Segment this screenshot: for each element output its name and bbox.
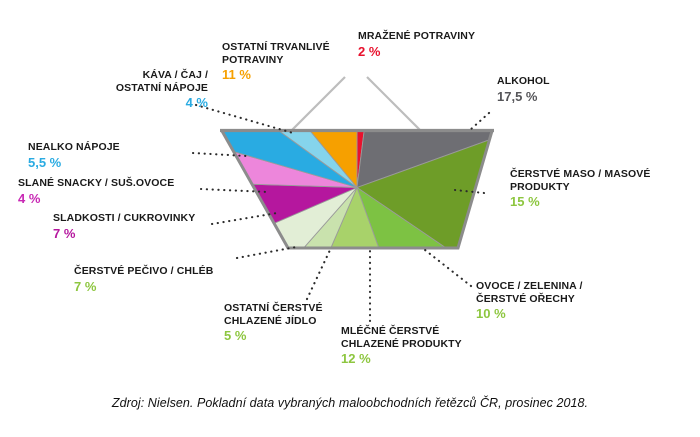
- label-alkohol-name: ALKOHOL: [497, 75, 627, 88]
- label-cerstve-maso-value: 15 %: [510, 194, 675, 209]
- label-nealko-napoje-value: 5,5 %: [28, 155, 183, 170]
- label-ostatni-trvanlive-name: OSTATNÍ TRVANLIVÉ POTRAVINY: [222, 41, 372, 66]
- label-ostatni-chlazene-name: OSTATNÍ ČERSTVÉ CHLAZENÉ JÍDLO: [224, 302, 364, 327]
- label-sladkosti-name: SLADKOSTI / CUKROVINKY: [53, 212, 213, 225]
- label-kava-caj-value: 4 %: [92, 95, 208, 110]
- label-slane-snacky-name: SLANÉ SNACKY / SUŠ.OVOCE: [18, 177, 198, 190]
- label-kava-caj: KÁVA / ČAJ / OSTATNÍ NÁPOJE 4 %: [92, 69, 208, 110]
- label-slane-snacky: SLANÉ SNACKY / SUŠ.OVOCE 4 %: [18, 177, 198, 206]
- guide-line-right: [367, 77, 421, 131]
- label-cerstve-pecivo: ČERSTVÉ PEČIVO / CHLÉB 7 %: [74, 265, 234, 294]
- leader-ostatni-chlazene: [307, 250, 330, 299]
- label-slane-snacky-value: 4 %: [18, 191, 198, 206]
- leader-sladkosti: [212, 213, 277, 224]
- label-cerstve-maso-name: ČERSTVÉ MASO / MASOVÉ PRODUKTY: [510, 168, 675, 193]
- label-mrazene-potraviny: MRAŽENÉ POTRAVINY 2 %: [358, 30, 518, 59]
- label-sladkosti-value: 7 %: [53, 226, 213, 241]
- label-ovoce-zelenina-value: 10 %: [476, 306, 626, 321]
- label-mlecne-produkty-name: MLÉČNÉ ČERSTVÉ CHLAZENÉ PRODUKTY: [341, 325, 491, 350]
- label-sladkosti: SLADKOSTI / CUKROVINKY 7 %: [53, 212, 213, 241]
- label-mrazene-potraviny-value: 2 %: [358, 44, 518, 59]
- guide-line-left: [291, 77, 345, 131]
- label-cerstve-maso: ČERSTVÉ MASO / MASOVÉ PRODUKTY 15 %: [510, 168, 675, 209]
- label-cerstve-pecivo-name: ČERSTVÉ PEČIVO / CHLÉB: [74, 265, 234, 278]
- label-ostatni-trvanlive-value: 11 %: [222, 67, 372, 82]
- label-ovoce-zelenina: OVOCE / ZELENINA / ČERSTVÉ OŘECHY 10 %: [476, 280, 626, 321]
- label-ostatni-trvanlive: OSTATNÍ TRVANLIVÉ POTRAVINY 11 %: [222, 41, 372, 82]
- source-caption: Zdroj: Nielsen. Pokladní data vybraných …: [0, 396, 700, 410]
- label-alkohol-value: 17,5 %: [497, 89, 627, 104]
- label-ovoce-zelenina-name: OVOCE / ZELENINA / ČERSTVÉ OŘECHY: [476, 280, 626, 305]
- leader-alkohol: [470, 113, 489, 130]
- leader-kava-caj: [196, 105, 293, 133]
- leader-ovoce-zelenina: [425, 250, 471, 286]
- label-cerstve-pecivo-value: 7 %: [74, 279, 234, 294]
- label-alkohol: ALKOHOL 17,5 %: [497, 75, 627, 104]
- label-nealko-napoje-name: NEALKO NÁPOJE: [28, 141, 183, 154]
- label-mrazene-potraviny-name: MRAŽENÉ POTRAVINY: [358, 30, 518, 43]
- label-mlecne-produkty-value: 12 %: [341, 351, 491, 366]
- label-nealko-napoje: NEALKO NÁPOJE 5,5 %: [28, 141, 183, 170]
- label-kava-caj-name: KÁVA / ČAJ / OSTATNÍ NÁPOJE: [92, 69, 208, 94]
- retail-basket-infographic: KÁVA / ČAJ / OSTATNÍ NÁPOJE 4 % OSTATNÍ …: [0, 0, 700, 437]
- label-mlecne-produkty: MLÉČNÉ ČERSTVÉ CHLAZENÉ PRODUKTY 12 %: [341, 325, 491, 366]
